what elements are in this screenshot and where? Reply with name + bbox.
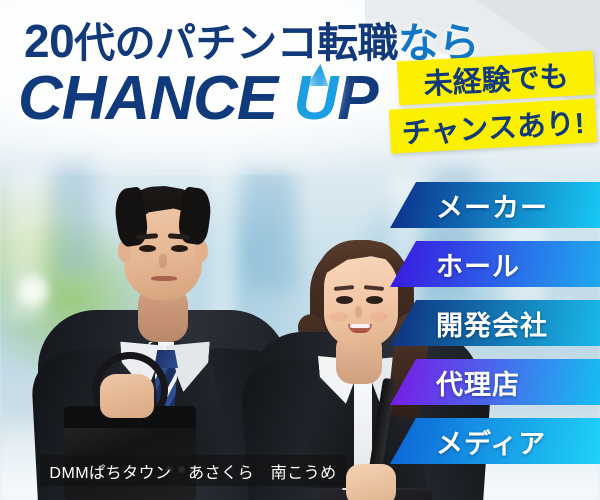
headline-number: 20 <box>24 15 74 67</box>
headline: 20代のパチンコ転職なら <box>24 18 479 64</box>
category-button-developer[interactable]: 開発会社 <box>390 300 600 346</box>
headline-mid: 代のパチンコ <box>74 20 317 66</box>
logo-letter-u: U <box>293 64 337 133</box>
category-label: 開発会社 <box>436 304 548 343</box>
category-button-media[interactable]: メディア <box>390 418 600 464</box>
category-button-list: メーカー ホール 開発会社 代理店 メディア <box>390 182 600 477</box>
category-button-agency[interactable]: 代理店 <box>390 359 600 405</box>
credit-caption: DMMぱちタウン あさくら 南こうめ <box>40 455 346 486</box>
category-label: 代理店 <box>436 363 520 402</box>
recruitment-banner[interactable]: 20代のパチンコ転職なら CHANCE UP 未経験でも チャンスあり! メーカ… <box>0 0 600 500</box>
category-button-maker[interactable]: メーカー <box>390 182 600 228</box>
category-label: ホール <box>436 245 520 284</box>
hand-holding-briefcase <box>100 374 154 418</box>
headline-line: 20代のパチンコ転職なら <box>24 18 479 64</box>
hand-holding-strap <box>346 464 396 500</box>
chance-up-logotype: CHANCE UP <box>18 68 378 130</box>
category-label: メーカー <box>436 186 548 225</box>
headline-keyword: 転職 <box>317 20 398 66</box>
logo-letter-p: P <box>337 64 377 133</box>
logo-word-chance: CHANCE <box>18 64 277 133</box>
category-button-hall[interactable]: ホール <box>390 241 600 287</box>
category-label: メディア <box>436 422 546 461</box>
